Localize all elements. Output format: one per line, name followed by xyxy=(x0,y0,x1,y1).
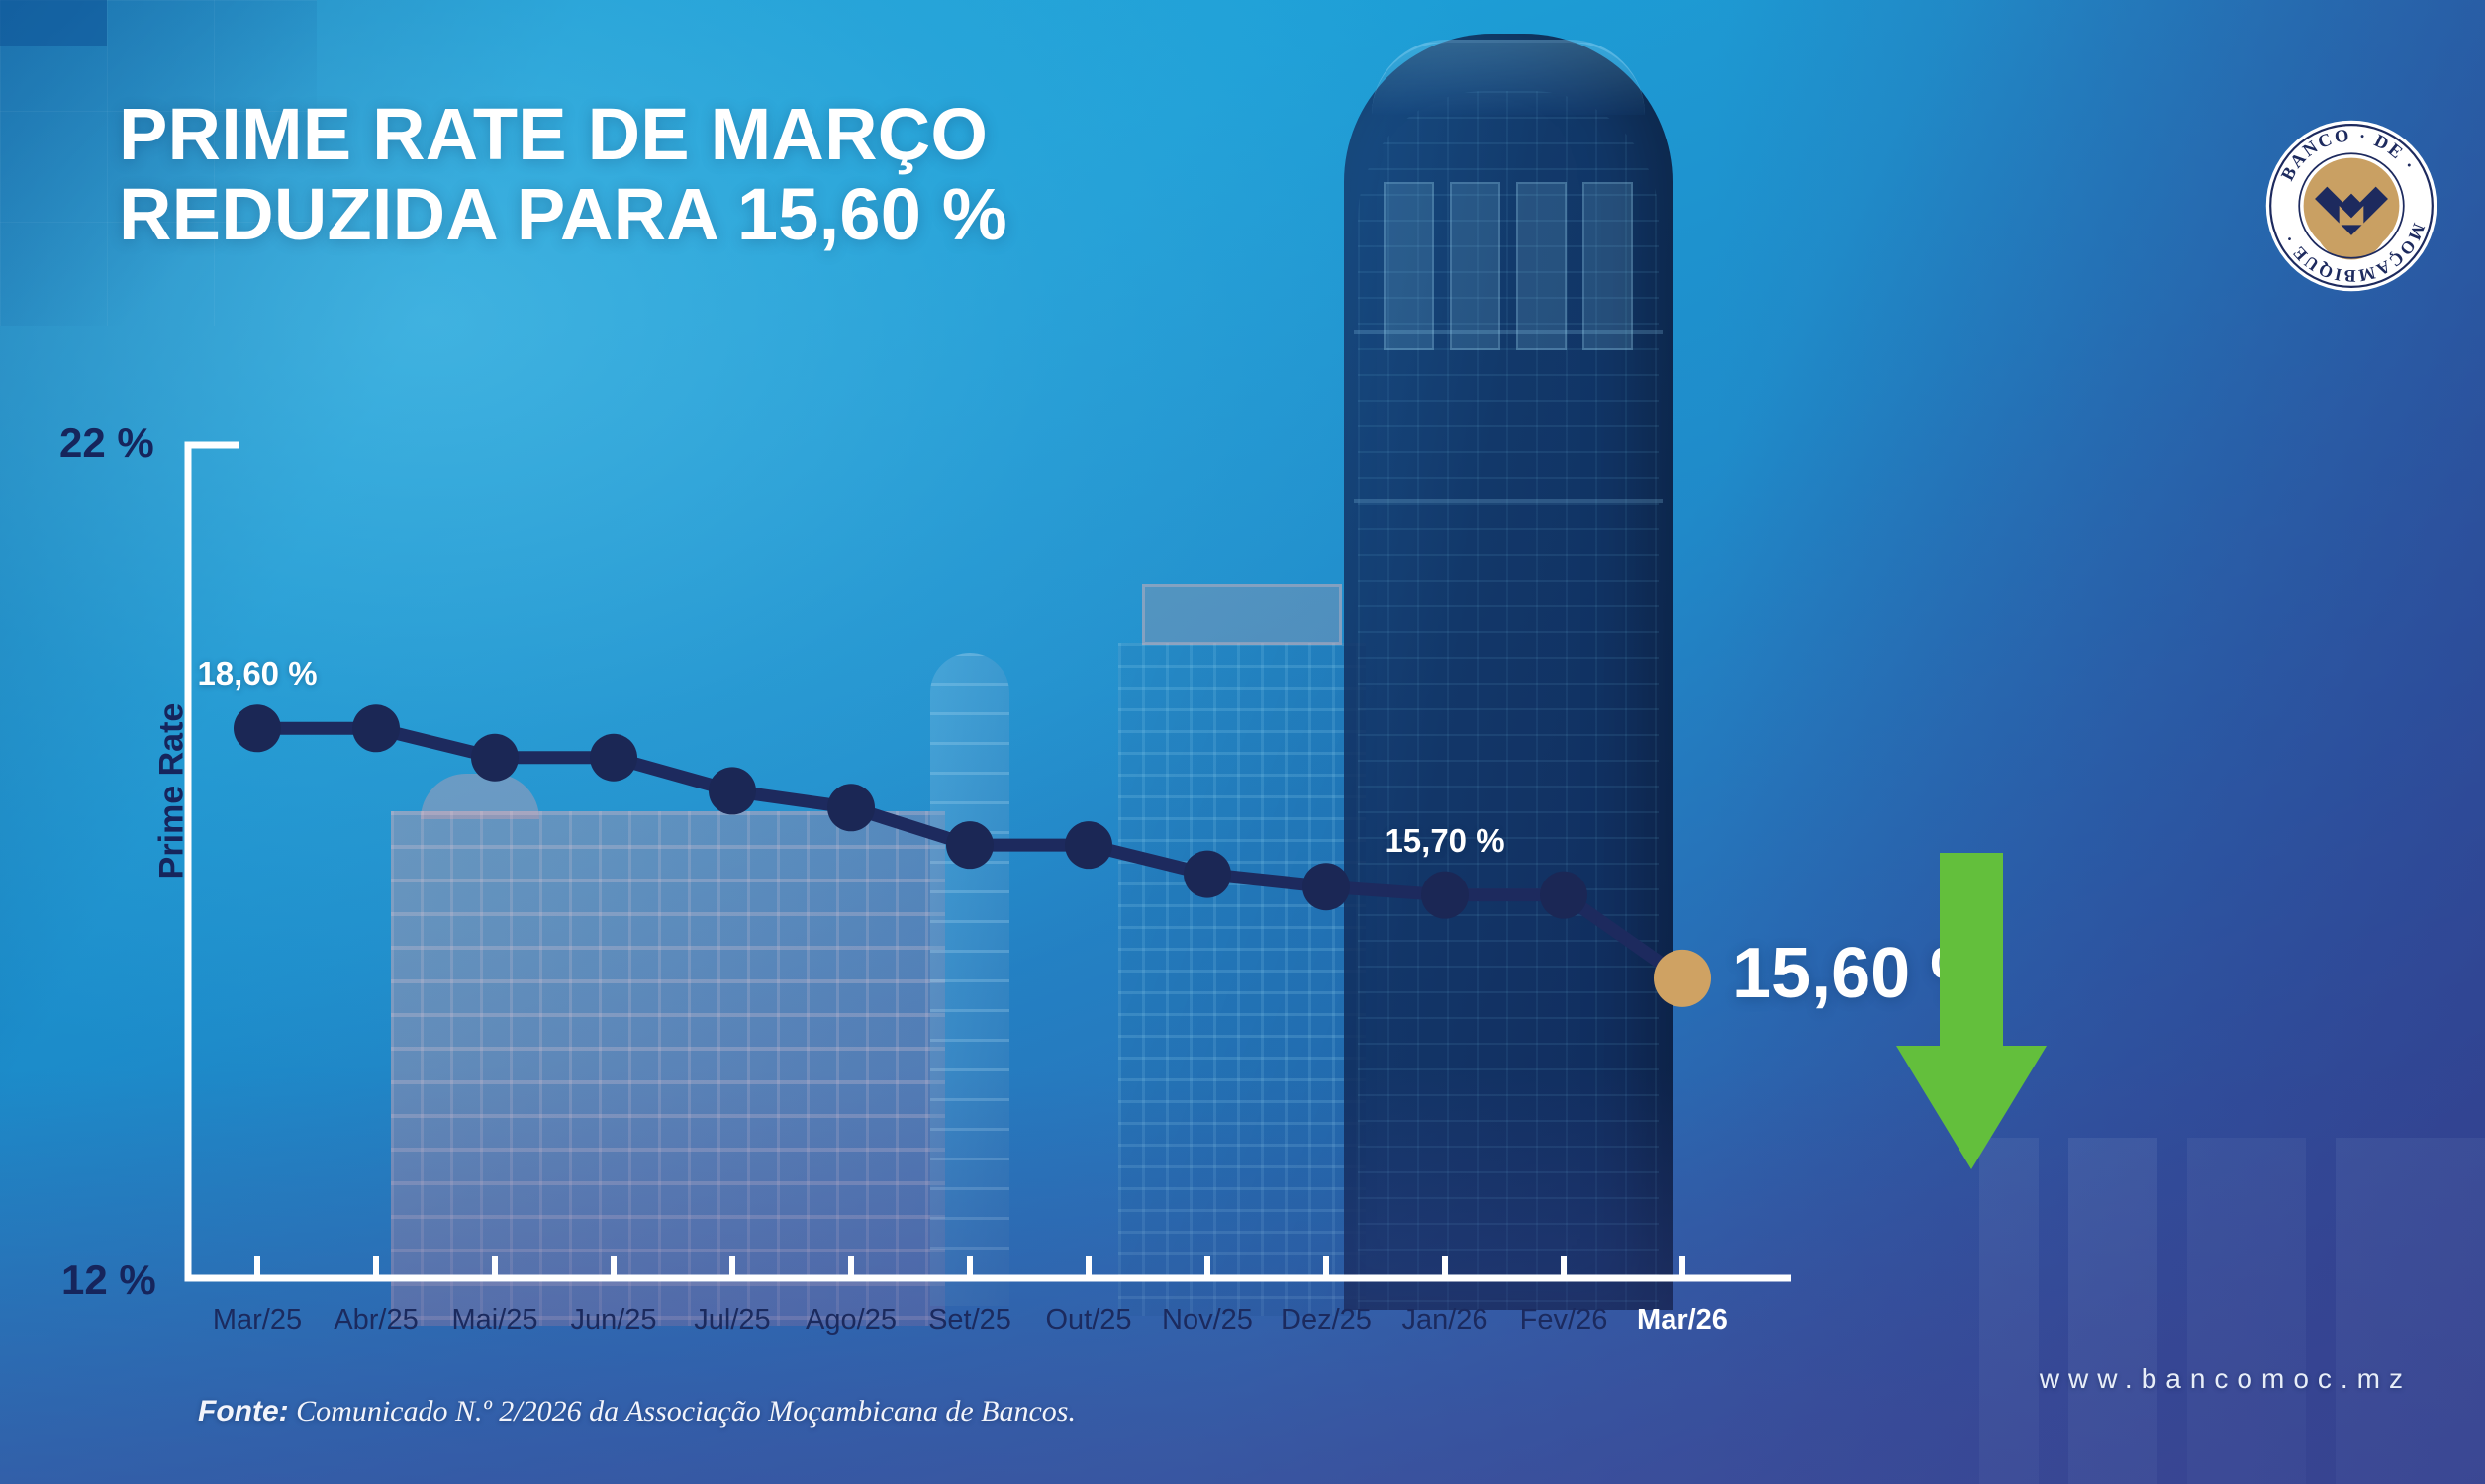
data-label: 18,60 % xyxy=(197,655,317,693)
x-axis-label-jan-26: Jan/26 xyxy=(1401,1304,1487,1337)
x-axis-label-abr-25: Abr/25 xyxy=(334,1304,418,1337)
x-axis-label-jun-25: Jun/25 xyxy=(570,1304,656,1337)
x-axis-label-mar-25: Mar/25 xyxy=(213,1304,302,1337)
source-label: Fonte: xyxy=(198,1395,289,1428)
website-url: www.bancomoc.mz xyxy=(2040,1363,2412,1395)
x-axis-label-set-25: Set/25 xyxy=(928,1304,1011,1337)
x-axis-label-ago-25: Ago/25 xyxy=(806,1304,897,1337)
source-note: Fonte: Comunicado N.º 2/2026 da Associaç… xyxy=(198,1395,1076,1429)
x-axis-label-dez-25: Dez/25 xyxy=(1281,1304,1372,1337)
prime-rate-chart: 22 % 12 % Prime Rate Mar/25Abr/25Mai/25J… xyxy=(0,0,2485,1484)
x-axis-labels: Mar/25Abr/25Mai/25Jun/25Jul/25Ago/25Set/… xyxy=(0,1304,2485,1349)
infographic-poster: PRIME RATE DE MARÇO REDUZIDA PARA 15,60 … xyxy=(0,0,2485,1484)
x-axis-label-mai-25: Mai/25 xyxy=(451,1304,537,1337)
x-axis-label-jul-25: Jul/25 xyxy=(694,1304,770,1337)
x-axis-label-nov-25: Nov/25 xyxy=(1162,1304,1253,1337)
x-axis-label-mar-26: Mar/26 xyxy=(1637,1304,1728,1337)
data-label: 15,70 % xyxy=(1385,822,1504,860)
down-arrow-icon xyxy=(1892,853,2051,1179)
x-axis-label-fev-26: Fev/26 xyxy=(1520,1304,1608,1337)
source-text: Comunicado N.º 2/2026 da Associação Moça… xyxy=(296,1395,1076,1428)
x-axis-label-out-25: Out/25 xyxy=(1045,1304,1131,1337)
chart-plot-area xyxy=(0,0,2485,1484)
